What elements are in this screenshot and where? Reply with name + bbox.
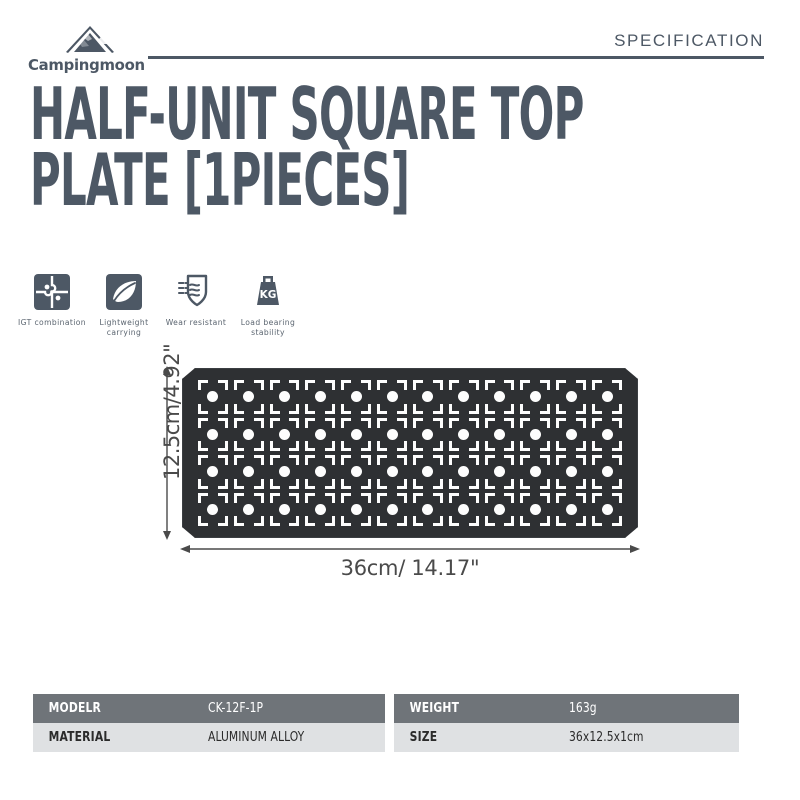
feature-list: IGT combination Lightweight carrying [16,272,306,344]
plate-perforation-cell [231,453,267,491]
plate-perforation-cell [517,491,553,529]
plate-perforation-cell [267,416,303,454]
plate-perforation-grid [195,378,625,528]
plate-perforation-cell [195,491,231,529]
plate-perforation-cell [410,491,446,529]
plate-perforation-cell [517,453,553,491]
plate-perforation-cell [231,416,267,454]
table-row: MATERIAL ALUMINUM ALLOY [33,723,385,752]
plate-perforation-cell [446,378,482,416]
shield-waves-icon [176,272,216,312]
spec-key: SIZE [394,730,555,745]
plate-perforation-cell [302,378,338,416]
plate-perforation-cell [446,491,482,529]
plate-perforation-cell [374,491,410,529]
feature-igt-combination: IGT combination [16,272,88,328]
plate-perforation-cell [338,491,374,529]
spec-value: CK-12F-1P [208,701,263,716]
plate-perforation-cell [302,416,338,454]
plate-perforation-cell [374,378,410,416]
product-plate-image [182,368,638,538]
feature-load-bearing-stability: KG Load bearing stability [232,272,304,338]
brand-wordmark: Campingmoon [28,57,141,74]
plate-perforation-cell [482,453,518,491]
plate-perforation-cell [589,491,625,529]
plate-perforation-cell [195,378,231,416]
feature-label: IGT combination [18,318,86,328]
plate-perforation-cell [482,416,518,454]
plate-perforation-cell [231,491,267,529]
product-illustration: 12.5cm/4.92" 36cm/ 14.17" [0,352,800,592]
table-row: WEIGHT 163g [394,694,739,723]
height-dimension-label: 12.5cm/4.92" [160,360,184,480]
plate-perforation-cell [517,416,553,454]
spec-key: MATERIAL [33,730,194,745]
page-title: HALF-UNIT SQUARE TOP PLATE [1PIECES] [30,82,770,206]
spec-key: MODELR [33,701,194,716]
plate-perforation-cell [482,491,518,529]
spec-table-left: MODELR CK-12F-1P MATERIAL ALUMINUM ALLOY [33,694,385,752]
plate-perforation-cell [195,453,231,491]
section-label: SPECIFICATION [614,31,764,51]
width-arrowheads [180,542,640,556]
puzzle-icon [33,272,71,312]
plate-perforation-cell [267,453,303,491]
spec-value: 163g [569,701,597,716]
plate-perforation-cell [195,416,231,454]
spec-value: 36x12.5x1cm [569,730,644,745]
plate-perforation-cell [553,416,589,454]
plate-perforation-cell [589,378,625,416]
feature-label: Wear resistant [166,318,227,328]
plate-perforation-cell [553,453,589,491]
leaf-icon [105,272,143,312]
plate-perforation-cell [231,378,267,416]
spec-table-right: WEIGHT 163g SIZE 36x12.5x1cm [394,694,739,752]
plate-perforation-cell [410,453,446,491]
feature-lightweight-carrying: Lightweight carrying [88,272,160,338]
table-row: MODELR CK-12F-1P [33,694,385,723]
plate-perforation-cell [338,378,374,416]
plate-perforation-cell [446,453,482,491]
plate-perforation-cell [553,491,589,529]
spec-key: WEIGHT [394,701,555,716]
feature-label: Load bearing stability [232,318,304,338]
plate-perforation-cell [589,453,625,491]
plate-perforation-cell [374,453,410,491]
plate-perforation-cell [410,416,446,454]
specification-sheet: Campingmoon SPECIFICATION HALF-UNIT SQUA… [0,0,800,800]
feature-label: Lightweight carrying [88,318,160,338]
plate-perforation-cell [553,378,589,416]
plate-perforation-cell [267,378,303,416]
plate-perforation-cell [338,453,374,491]
plate-perforation-cell [446,416,482,454]
plate-perforation-cell [374,416,410,454]
plate-perforation-cell [267,491,303,529]
plate-perforation-cell [302,491,338,529]
plate-perforation-cell [410,378,446,416]
plate-perforation-cell [517,378,553,416]
svg-text:KG: KG [260,289,277,301]
feature-wear-resistant: Wear resistant [160,272,232,328]
plate-perforation-cell [338,416,374,454]
kg-weight-icon: KG [249,272,287,312]
table-row: SIZE 36x12.5x1cm [394,723,739,752]
page-title-line-2: PLATE [1PIECES] [30,148,578,214]
plate-perforation-cell [589,416,625,454]
specification-table: MODELR CK-12F-1P MATERIAL ALUMINUM ALLOY… [33,694,739,752]
mountain-icon [36,24,144,56]
plate-perforation-cell [482,378,518,416]
spec-value: ALUMINUM ALLOY [208,730,304,745]
width-dimension-label: 36cm/ 14.17" [182,556,638,580]
plate-perforation-cell [302,453,338,491]
brand-logo: Campingmoon [28,24,146,76]
header-divider-rule [148,56,764,59]
